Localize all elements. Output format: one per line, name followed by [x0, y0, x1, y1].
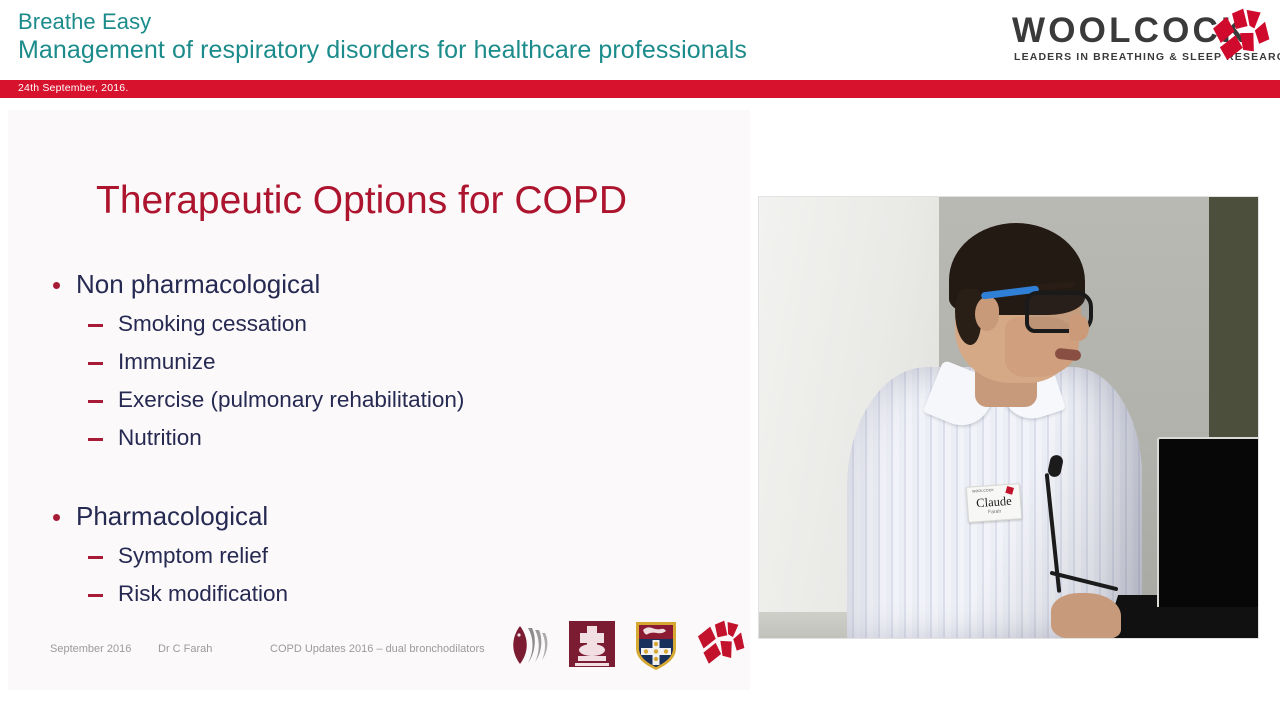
partner-logo-row: [504, 618, 752, 672]
bullet-sub-item: Smoking cessation: [44, 305, 744, 343]
header-title-block: Breathe Easy Management of respiratory d…: [18, 8, 747, 65]
bullet-sub-item: Exercise (pulmonary rehabilitation): [44, 381, 744, 419]
woolcock-brand-logo: WOOLCOCK LEADERS IN BREATHING & SLEEP RE…: [1004, 6, 1274, 74]
bullet-sub-item: Risk modification: [44, 575, 744, 613]
speaker-nose: [1069, 315, 1089, 341]
laptop-screen: [1157, 437, 1259, 607]
date-bar-text: 24th September, 2016.: [18, 82, 128, 94]
date-bar: 24th September, 2016.: [0, 80, 1280, 98]
slide-footer-deck-title: COPD Updates 2016 – dual bronchodilators: [270, 643, 485, 655]
speaker-hand: [1051, 593, 1121, 639]
speaker-name-badge: WOOLCOCK Claude Farah: [966, 483, 1022, 523]
slide-footer-author: Dr C Farah: [158, 643, 212, 655]
presentation-video-page: Breathe Easy Management of respiratory d…: [0, 0, 1280, 720]
bullet-sub-item: Immunize: [44, 343, 744, 381]
slide-footer-date: September 2016: [50, 643, 131, 655]
woolcock-shard-icon: [1210, 8, 1272, 66]
header-title-primary: Breathe Easy: [18, 8, 747, 35]
badge-org-label: WOOLCOCK: [972, 488, 994, 494]
bullet-sub-item: Nutrition: [44, 419, 744, 457]
slide-bullet-list: Non pharmacological Smoking cessation Im…: [44, 265, 744, 613]
royal-prince-alfred-crest-logo-icon: [566, 618, 618, 670]
speaker-video-panel[interactable]: WOOLCOCK Claude Farah: [758, 196, 1259, 639]
slide-title: Therapeutic Options for COPD: [96, 178, 627, 224]
slide-panel: Therapeutic Options for COPD Non pharmac…: [8, 110, 750, 690]
bullet-sub-item: Symptom relief: [44, 537, 744, 575]
speaker-ear: [975, 297, 999, 331]
woolcock-shard-logo-icon: [694, 618, 746, 670]
bullet-group-spacer: [44, 457, 744, 497]
header-title-secondary: Management of respiratory disorders for …: [18, 35, 747, 65]
concord-hospital-leaf-logo-icon: [506, 618, 558, 670]
bullet-heading: Non pharmacological: [44, 265, 744, 303]
stage: Therapeutic Options for COPD Non pharmac…: [0, 98, 1280, 720]
university-of-sydney-shield-logo-icon: [630, 618, 682, 670]
page-header: Breathe Easy Management of respiratory d…: [0, 0, 1280, 80]
bullet-heading: Pharmacological: [44, 497, 744, 535]
